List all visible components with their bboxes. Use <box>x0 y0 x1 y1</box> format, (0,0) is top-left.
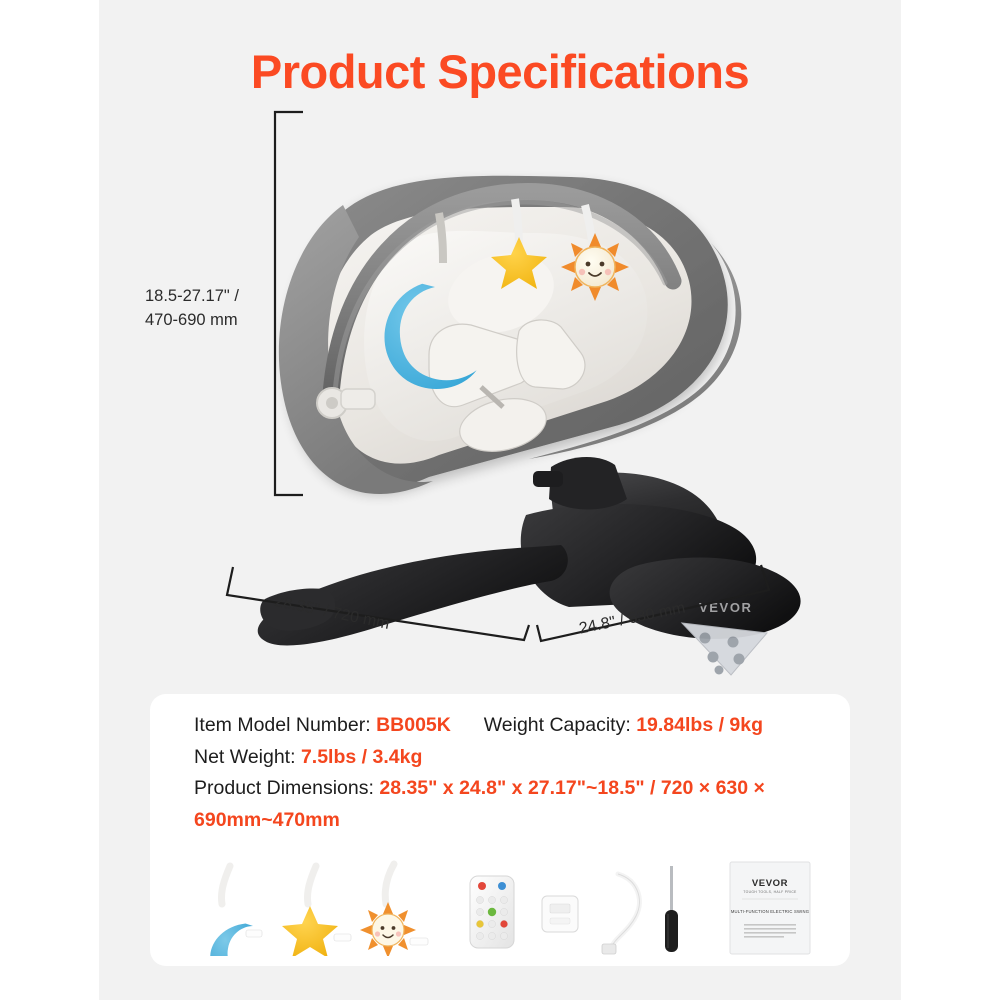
product-spec-page: Product Specifications <box>0 0 1000 1000</box>
accessory-moon-toy <box>210 866 262 956</box>
manual-tagline: TOUGH TOOLS, HALF PRICE <box>743 890 797 894</box>
spec-label-model: Item Model Number: <box>194 714 371 736</box>
specifications-card: Item Model Number: BB005K Weight Capacit… <box>150 694 850 966</box>
baby-swing-illustration: VEVOR <box>99 95 901 685</box>
spec-row-dimensions: Product Dimensions: 28.35" x 24.8" x 27.… <box>194 773 834 836</box>
accessories-row: VEVOR TOUGH TOOLS, HALF PRICE MULTI-FUNC… <box>194 860 822 956</box>
accessory-manual: VEVOR TOUGH TOOLS, HALF PRICE MULTI-FUNC… <box>730 862 810 954</box>
height-dimension-label: 18.5-27.17" / 470-690 mm <box>145 285 295 333</box>
manual-doc-title: MULTI-FUNCTION ELECTRIC SWING <box>731 909 809 914</box>
spec-value-capacity: 19.84lbs / 9kg <box>636 714 763 736</box>
spec-label-net-weight: Net Weight: <box>194 746 296 768</box>
spec-row-net-weight: Net Weight: 7.5lbs / 3.4kg <box>194 742 834 774</box>
base-brand-wordmark: VEVOR <box>699 600 753 615</box>
accessory-power-adapter <box>542 896 578 932</box>
specifications-list: Item Model Number: BB005K Weight Capacit… <box>194 710 834 836</box>
hanging-toy-sun <box>561 233 629 301</box>
accessory-sun-toy <box>360 864 428 956</box>
manual-brand: VEVOR <box>752 878 788 889</box>
page-title: Product Specifications <box>0 44 1000 99</box>
spec-row-model-capacity: Item Model Number: BB005K Weight Capacit… <box>194 710 834 742</box>
accessory-screwdriver <box>665 866 678 952</box>
accessory-remote-control <box>470 876 514 948</box>
spec-label-capacity: Weight Capacity: <box>484 714 631 736</box>
spec-label-dimensions: Product Dimensions: <box>194 777 374 799</box>
spec-value-net-weight: 7.5lbs / 3.4kg <box>301 746 422 768</box>
spec-value-model: BB005K <box>376 714 451 736</box>
accessory-star-toy <box>282 866 351 956</box>
accessory-usb-cable <box>602 874 639 954</box>
swing-base: VEVOR <box>258 457 801 675</box>
product-diagram: VEVOR <box>99 95 901 685</box>
